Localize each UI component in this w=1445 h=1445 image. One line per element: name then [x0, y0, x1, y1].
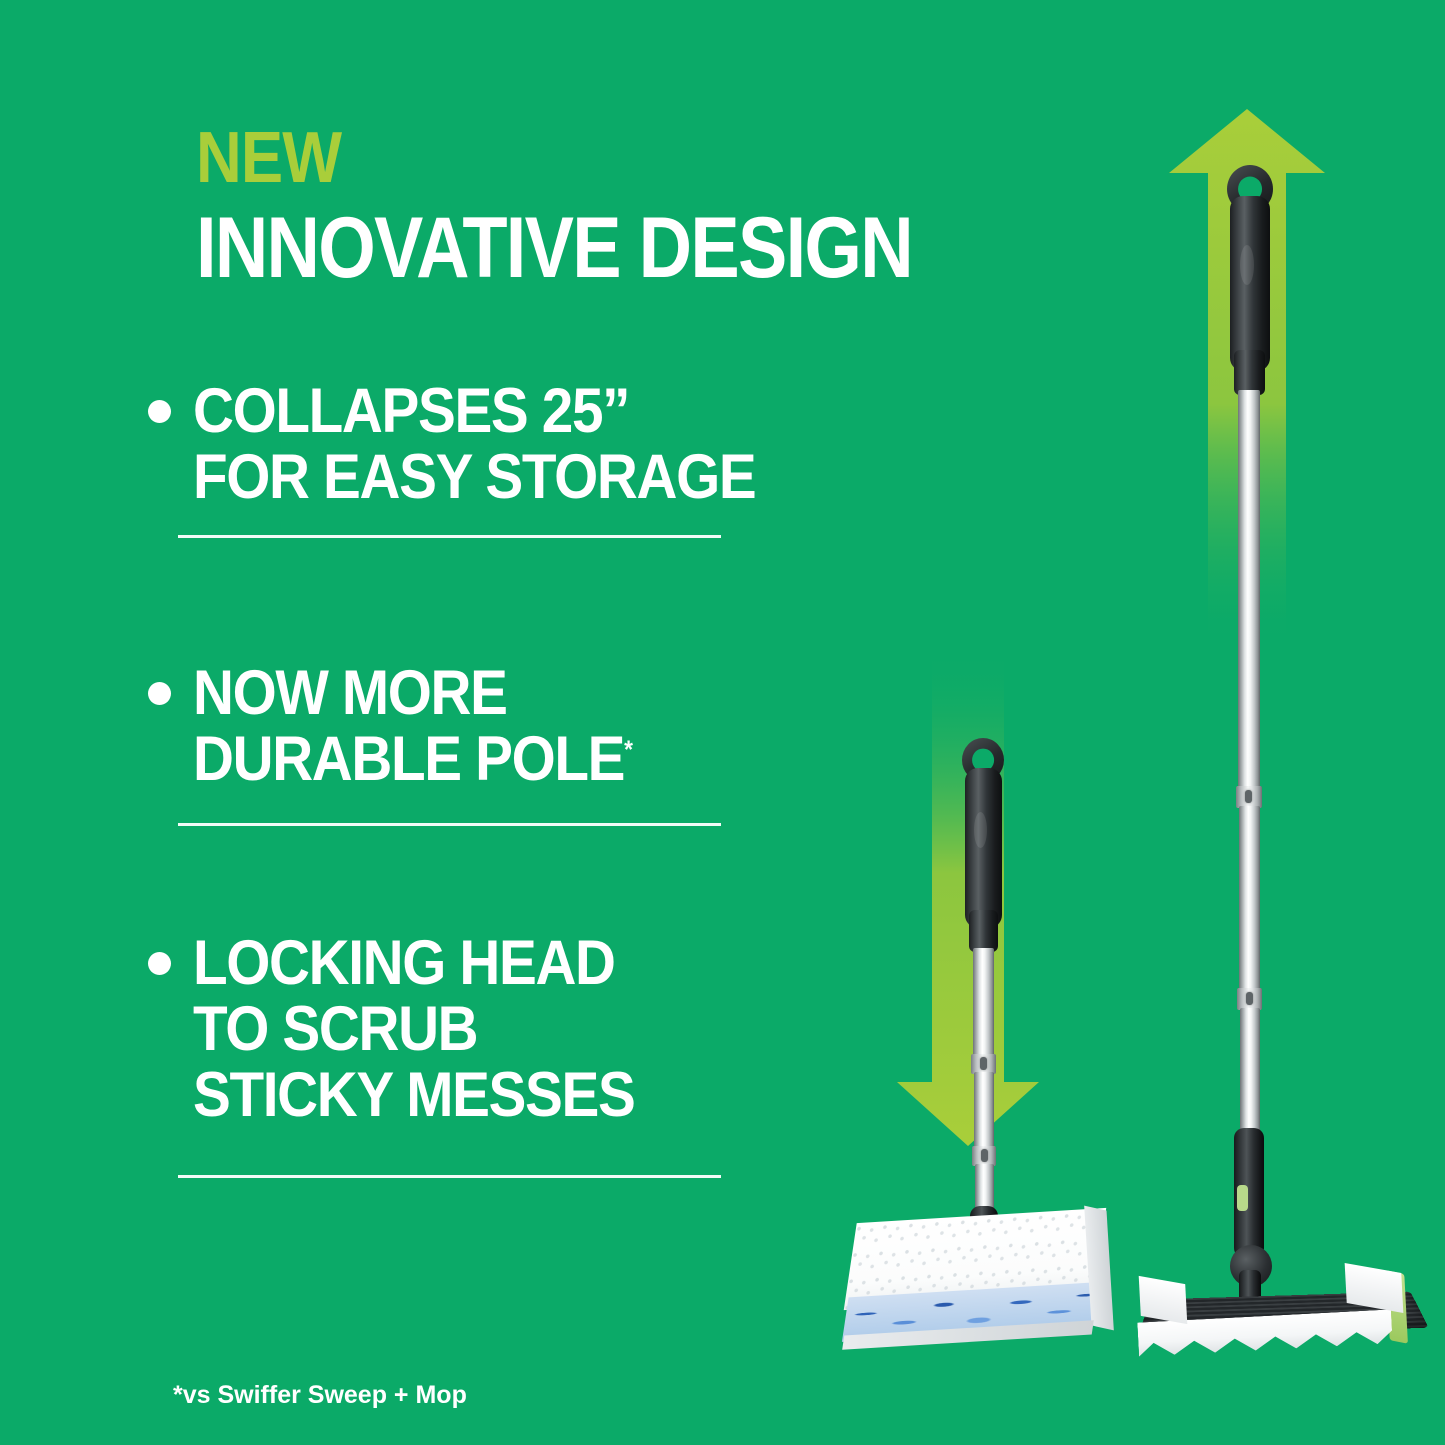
feature-3-lines: LOCKING HEAD TO SCRUB STICKY MESSES [193, 930, 830, 1128]
feature-item-1: COLLAPSES 25” FOR EASY STORAGE [140, 378, 830, 510]
grip-taper [1234, 350, 1265, 395]
collapsed-pole-button-upper [980, 1057, 987, 1070]
pole-segment-lower [1240, 1008, 1260, 1136]
mop-grip-collapsed [965, 768, 1002, 928]
footnote-marker: * [624, 736, 631, 764]
grip-taper-collapsed [969, 910, 998, 952]
feature-3-line-3: STICKY MESSES [193, 1062, 766, 1128]
collapsed-mop-product [900, 730, 1190, 1350]
divider-1 [178, 535, 721, 538]
collapsed-pole-upper [973, 948, 994, 1058]
feature-3-line-2: TO SCRUB [193, 996, 766, 1062]
pole-lock-button-upper [1245, 790, 1252, 803]
collapsed-pole-lower [974, 1072, 994, 1150]
feature-3-line-1: LOCKING HEAD [193, 930, 766, 996]
pole-lock-button-lower [1246, 992, 1253, 1005]
pole-segment-middle [1239, 806, 1260, 992]
page-title: INNOVATIVE DESIGN [196, 205, 912, 291]
pole-segment-upper [1238, 390, 1260, 790]
bullet-dot-icon [148, 682, 171, 705]
divider-3 [178, 1175, 721, 1178]
feature-item-3: LOCKING HEAD TO SCRUB STICKY MESSES [140, 930, 830, 1128]
eyebrow-new: NEW [196, 122, 341, 194]
feature-2-line-2: DURABLE POLE* [193, 726, 766, 792]
extended-mop-product [1150, 150, 1445, 1350]
neck-green-accent [1237, 1185, 1248, 1211]
footnote-text: *vs Swiffer Sweep + Mop [173, 1381, 467, 1409]
bullet-dot-icon [148, 952, 171, 975]
grip-detail-collapsed [974, 812, 987, 848]
collapsed-pole-tip [975, 1164, 994, 1212]
divider-2 [178, 823, 721, 826]
feature-1-line-1: COLLAPSES 25” [193, 378, 766, 444]
feature-2-line-1: NOW MORE [193, 660, 766, 726]
feature-1-line-2: FOR EASY STORAGE [193, 444, 766, 510]
feature-2-line-2-text: DURABLE POLE [193, 724, 624, 794]
feature-2-lines: NOW MORE DURABLE POLE* [193, 660, 830, 792]
feature-1-lines: COLLAPSES 25” FOR EASY STORAGE [193, 378, 830, 510]
product-feature-graphic: NEW INNOVATIVE DESIGN COLLAPSES 25” FOR … [0, 0, 1445, 1445]
collapsed-pole-button-lower [981, 1149, 988, 1162]
bullet-dot-icon [148, 400, 171, 423]
mop-grip [1230, 196, 1270, 371]
copy-block: NEW INNOVATIVE DESIGN COLLAPSES 25” FOR … [0, 0, 830, 1445]
feature-item-2: NOW MORE DURABLE POLE* [140, 660, 830, 792]
grip-detail [1240, 245, 1254, 285]
